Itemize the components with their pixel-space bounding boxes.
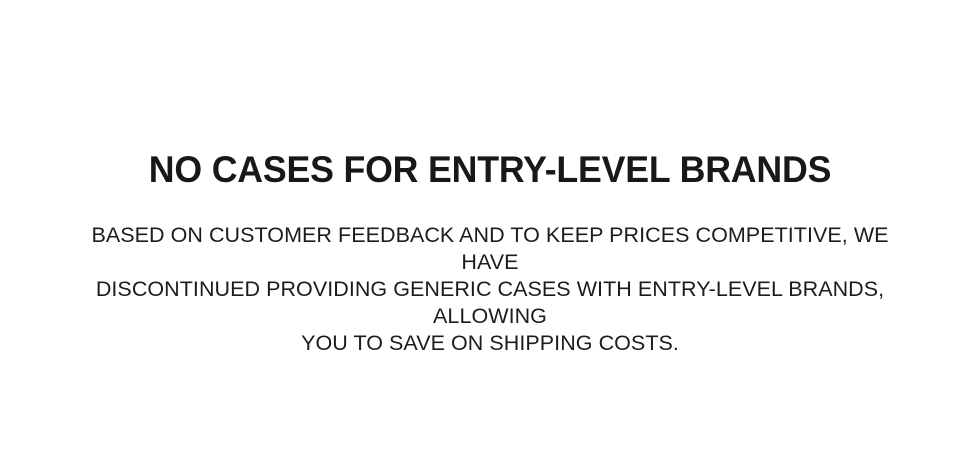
notice-body-line: YOU TO SAVE ON SHIPPING COSTS.: [60, 330, 920, 357]
notice-banner: NO CASES FOR ENTRY-LEVEL BRANDS BASED ON…: [0, 0, 980, 450]
notice-body-line: BASED ON CUSTOMER FEEDBACK AND TO KEEP P…: [60, 222, 920, 276]
notice-body: BASED ON CUSTOMER FEEDBACK AND TO KEEP P…: [60, 192, 920, 357]
notice-body-line: DISCONTINUED PROVIDING GENERIC CASES WIT…: [60, 276, 920, 330]
notice-content: NO CASES FOR ENTRY-LEVEL BRANDS BASED ON…: [60, 148, 920, 357]
notice-heading: NO CASES FOR ENTRY-LEVEL BRANDS: [75, 148, 905, 192]
